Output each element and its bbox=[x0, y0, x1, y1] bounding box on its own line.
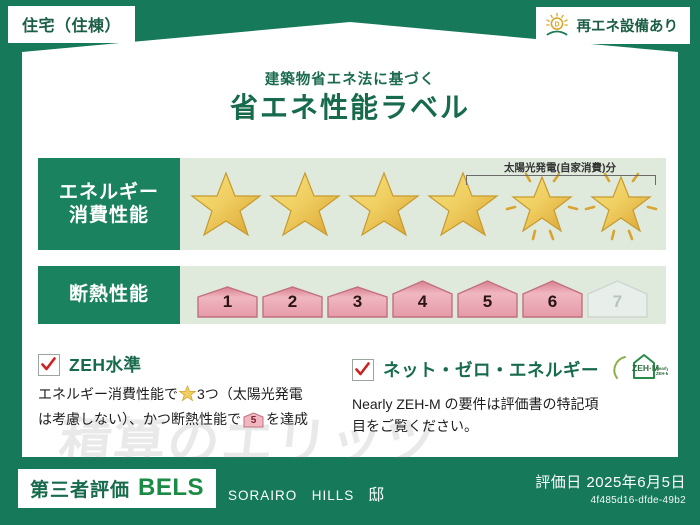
insulation-level-house: 4 bbox=[391, 279, 454, 319]
svg-text:ZEH-M: ZEH-M bbox=[656, 371, 668, 376]
renewable-equipment-badge: D 再エネ設備あり bbox=[536, 7, 691, 44]
solar-sun-icon: D bbox=[544, 12, 570, 38]
net-zero-title: ネット・ゼロ・エネルギー bbox=[383, 357, 599, 382]
svg-text:D: D bbox=[554, 22, 559, 29]
inline-star-icon bbox=[179, 385, 196, 409]
solar-contribution-note: 太陽光発電(自家消費)分 bbox=[462, 160, 658, 175]
star-icon bbox=[188, 165, 265, 243]
energy-row-body: 太陽光発電(自家消費)分 bbox=[180, 158, 666, 250]
bels-prefix-label: 第三者評価 bbox=[30, 475, 130, 502]
building-name-suffix: 邸 bbox=[368, 487, 385, 504]
building-name-group: SORAIRO HILLS邸 bbox=[228, 481, 385, 505]
renewable-badge-label: 再エネ設備あり bbox=[577, 15, 679, 36]
zeh-desc-line1a: エネルギー消費性能で bbox=[38, 386, 178, 402]
energy-row-label: エネルギー 消費性能 bbox=[38, 158, 180, 250]
energy-performance-label: 住宅（住棟） D 再エネ設備あり 建築物省エネ法に基づく 省エネ性能ラベル bbox=[0, 0, 700, 525]
zeh-desc-line2a: は考慮しない）、かつ断熱性能で bbox=[38, 411, 241, 427]
insulation-level-number: 3 bbox=[353, 292, 362, 319]
building-name: SORAIRO HILLS bbox=[228, 488, 354, 503]
insulation-level-house-inactive: 7 bbox=[586, 279, 649, 319]
zeh-desc-line1b: 3つ（太陽光発電 bbox=[197, 386, 303, 402]
insulation-level-house: 6 bbox=[521, 279, 584, 319]
bels-badge: 第三者評価 BELS bbox=[18, 469, 216, 508]
star-icon bbox=[267, 165, 344, 243]
insulation-level-house: 1 bbox=[196, 285, 259, 319]
zeh-desc-line2b: を達成 bbox=[266, 411, 308, 427]
net-zero-description: Nearly ZEH-M の要件は評価書の特記項 目をご覧ください。 bbox=[352, 394, 656, 437]
solar-bracket bbox=[466, 175, 656, 185]
net-zero-desc-line1: Nearly ZEH-M の要件は評価書の特記項 bbox=[352, 396, 599, 412]
zeh-standard-title: ZEH水準 bbox=[69, 352, 142, 377]
svg-text:ZEH·M: ZEH·M bbox=[632, 363, 659, 373]
insulation-row-body: 1 2 3 4 bbox=[180, 266, 666, 324]
bels-name-label: BELS bbox=[138, 474, 204, 502]
checkbox-checked-icon[interactable] bbox=[352, 359, 374, 381]
insulation-performance-row: 断熱性能 1 2 bbox=[38, 266, 666, 324]
inline-insulation-house-icon: 5 bbox=[243, 412, 264, 428]
insulation-level-number: 7 bbox=[613, 292, 622, 319]
insulation-level-number: 4 bbox=[418, 292, 427, 319]
evaluation-info: 評価日 2025年6月5日 4f485d16-dfde-49b2 bbox=[535, 471, 686, 506]
insulation-level-number: 5 bbox=[483, 292, 492, 319]
criteria-section: ZEH水準 エネルギー消費性能で3つ（太陽光発電 は考慮しない）、かつ断熱性能で… bbox=[38, 352, 666, 450]
building-type-tab: 住宅（住棟） bbox=[8, 6, 135, 43]
insulation-level-number: 1 bbox=[223, 292, 232, 319]
energy-label-line1: エネルギー bbox=[59, 181, 159, 204]
net-zero-desc-line2: 目をご覧ください。 bbox=[352, 418, 478, 434]
zeh-standard-heading: ZEH水準 bbox=[38, 352, 342, 377]
zeh-m-logo-icon: ZEH·M Nearly ZEH-M bbox=[612, 352, 668, 387]
zeh-standard-description: エネルギー消費性能で3つ（太陽光発電 は考慮しない）、かつ断熱性能で5を達成 bbox=[38, 384, 342, 430]
evaluation-id: 4f485d16-dfde-49b2 bbox=[535, 495, 686, 506]
insulation-scale: 1 2 3 4 bbox=[196, 279, 649, 324]
label-title: 省エネ性能ラベル bbox=[0, 86, 700, 126]
checkbox-checked-icon[interactable] bbox=[38, 354, 60, 376]
evaluation-date: 評価日 2025年6月5日 bbox=[535, 471, 686, 492]
energy-consumption-row: エネルギー 消費性能 太陽光発電(自家消費)分 bbox=[38, 158, 666, 250]
insulation-label-text: 断熱性能 bbox=[69, 283, 149, 306]
label-footer: 第三者評価 BELS SORAIRO HILLS邸 評価日 2025年6月5日 … bbox=[0, 459, 700, 525]
insulation-level-house: 3 bbox=[326, 285, 389, 319]
net-zero-heading: ネット・ゼロ・エネルギー ZEH·M Nearly ZEH-M bbox=[352, 352, 656, 387]
star-icon bbox=[346, 165, 423, 243]
insulation-level-house: 5 bbox=[456, 279, 519, 319]
zeh-standard-block: ZEH水準 エネルギー消費性能で3つ（太陽光発電 は考慮しない）、かつ断熱性能で… bbox=[38, 352, 352, 450]
inline-house-number: 5 bbox=[243, 413, 264, 429]
insulation-row-label: 断熱性能 bbox=[38, 266, 180, 324]
insulation-level-house: 2 bbox=[261, 285, 324, 319]
insulation-level-number: 6 bbox=[548, 292, 557, 319]
insulation-level-number: 2 bbox=[288, 292, 297, 319]
energy-label-line2: 消費性能 bbox=[69, 204, 149, 227]
net-zero-energy-block: ネット・ゼロ・エネルギー ZEH·M Nearly ZEH-M Nearly Z… bbox=[352, 352, 666, 450]
